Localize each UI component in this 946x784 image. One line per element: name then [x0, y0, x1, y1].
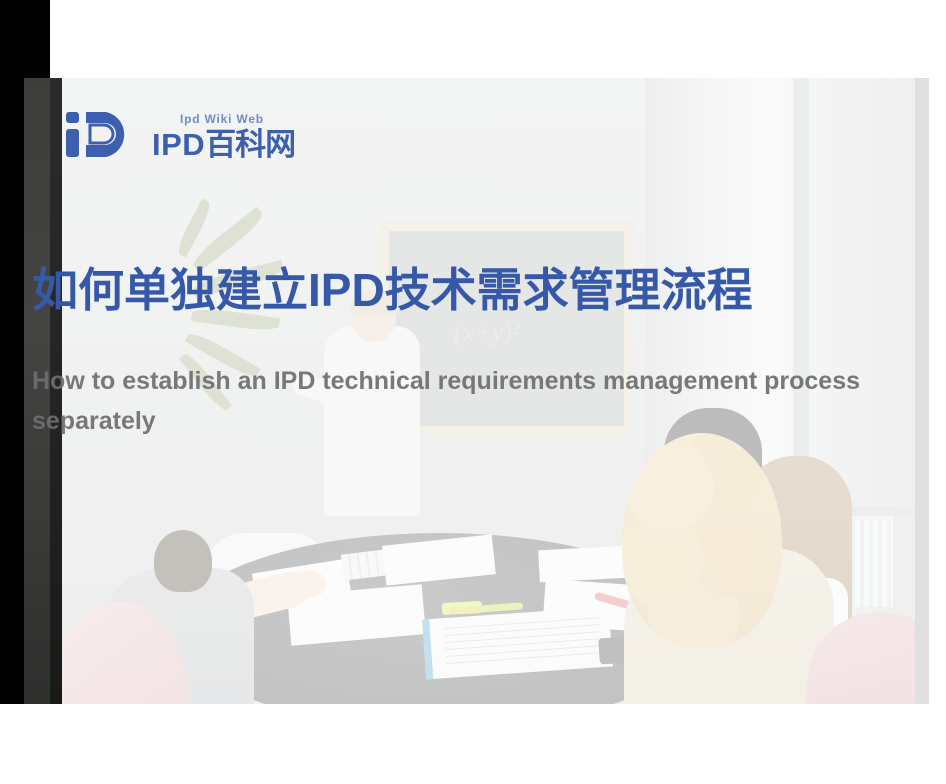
logo-wordmark-cn: 百科网 — [205, 127, 295, 162]
logo-wordmark-latin: IPD — [152, 127, 205, 162]
logo-tagline: Ipd Wiki Web — [180, 112, 264, 126]
hero-title: 如何单独建立IPD技术需求管理流程 — [32, 264, 929, 317]
site-logo[interactable]: Ipd Wiki Web IPD百科网 — [64, 106, 295, 162]
hero-subtitle: How to establish an IPD technical requir… — [32, 361, 862, 441]
logo-wordmark: IPD百科网 — [152, 129, 295, 160]
hero-text-block: 如何单独建立IPD技术需求管理流程 How to establish an IP… — [24, 264, 929, 441]
logo-text-block: Ipd Wiki Web IPD百科网 — [152, 129, 295, 162]
ipd-id-monogram-icon — [64, 106, 142, 162]
page-canvas: (x+y)² — [0, 0, 946, 784]
hero-banner: (x+y)² — [24, 78, 929, 704]
